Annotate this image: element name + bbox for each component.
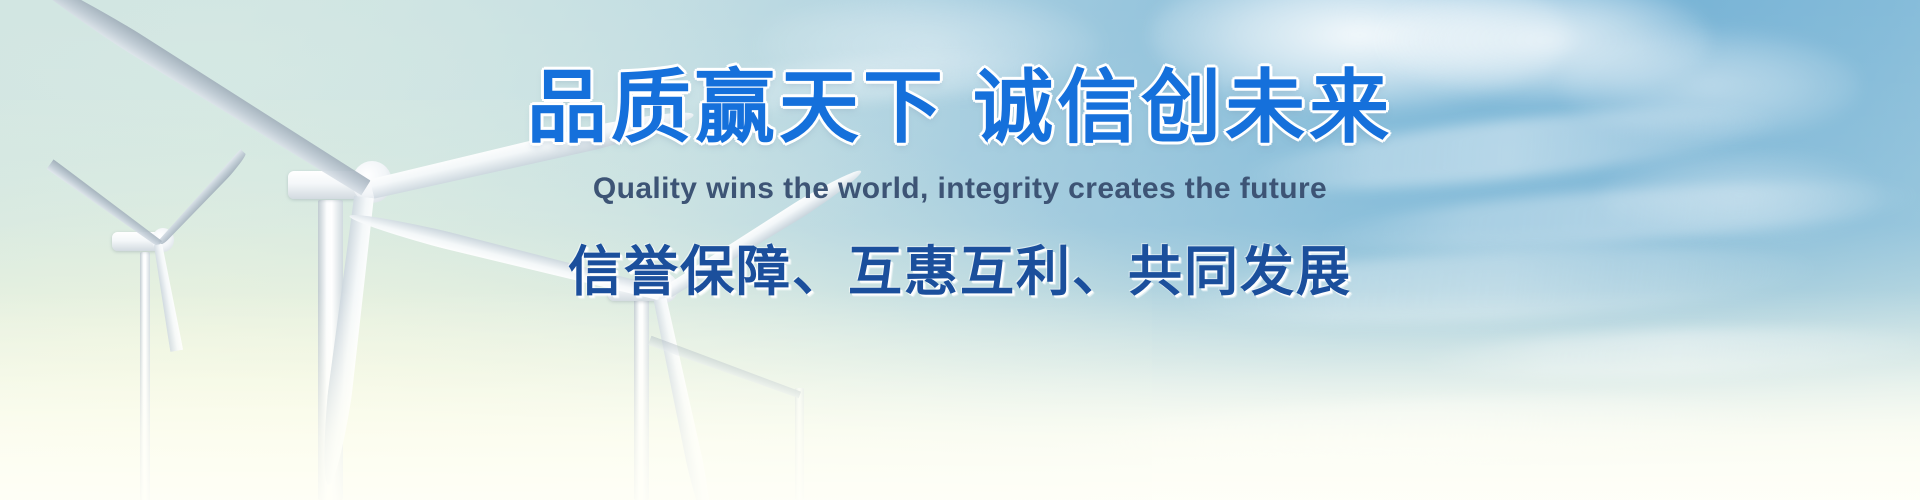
bottom-haze — [0, 290, 1920, 500]
cloud-icon — [1600, 150, 1880, 240]
hero-banner: 品质赢天下 诚信创未来 Quality wins the world, inte… — [0, 0, 1920, 500]
